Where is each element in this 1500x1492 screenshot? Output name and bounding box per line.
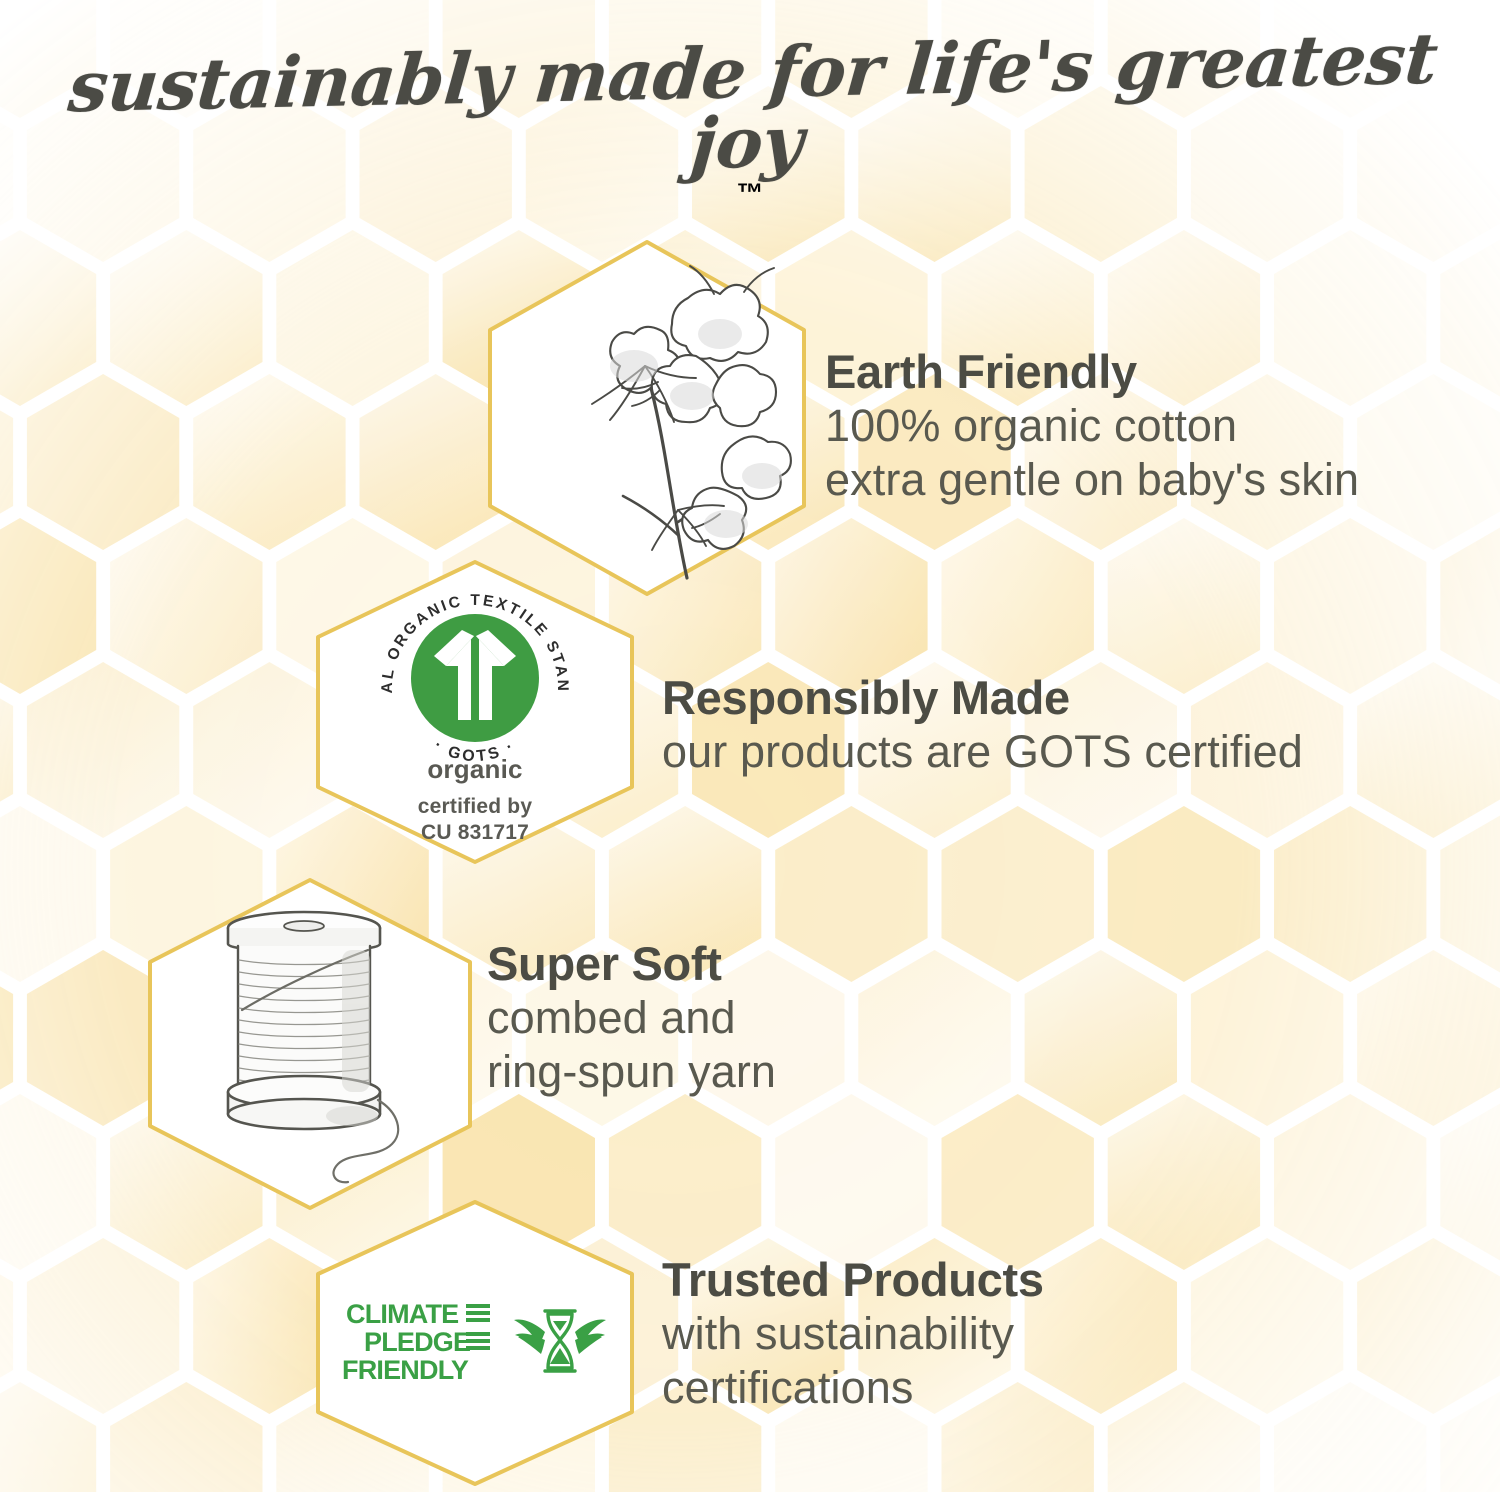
honeycomb-cell [775, 0, 927, 118]
honeycomb-cell [1357, 662, 1500, 838]
honeycomb-cell [110, 0, 262, 118]
honeycomb-cell [1274, 1382, 1426, 1492]
honeycomb-cell [1357, 1238, 1500, 1414]
honeycomb-cell [0, 1094, 96, 1270]
feature-hex-trusted-products[interactable]: CLIMATE PLEDGE FRIENDLY [312, 1198, 638, 1488]
feature-title: Trusted Products [662, 1254, 1044, 1307]
honeycomb-cell [1357, 374, 1500, 550]
honeycomb-cell [0, 806, 96, 982]
honeycomb-cell [692, 86, 845, 262]
feature-text-responsibly-made: Responsibly Made our products are GOTS c… [662, 672, 1303, 779]
honeycomb-cell [1108, 518, 1260, 694]
honeycomb-cell [360, 86, 512, 262]
honeycomb-cell [110, 518, 262, 694]
honeycomb-cell [1274, 518, 1426, 694]
climate-pledge-wordmark: CLIMATE PLEDGE FRIENDLY [342, 1297, 494, 1389]
gots-green-circle [411, 614, 539, 742]
honeycomb-cell [1274, 0, 1426, 118]
feature-text-super-soft: Super Soft combed and ring-spun yarn [487, 938, 776, 1099]
honeycomb-cell [1274, 1094, 1426, 1270]
honeycomb-cell [1025, 1238, 1177, 1414]
honeycomb-cell [1440, 230, 1500, 406]
honeycomb-cell [1440, 1094, 1500, 1270]
honeycomb-cell [858, 86, 1010, 262]
honeycomb-cell [110, 1382, 262, 1492]
honeycomb-cell [193, 374, 345, 550]
honeycomb-cell [942, 518, 1094, 694]
feature-hex-responsibly-made[interactable]: GLOBAL ORGANIC TEXTILE STANDARD · GOTS ·… [310, 558, 640, 866]
honeycomb-cell [276, 230, 429, 406]
climate-pledge-friendly-logo: CLIMATE PLEDGE FRIENDLY [342, 1297, 608, 1389]
honeycomb-cell [1357, 86, 1500, 262]
feature-title: Super Soft [487, 938, 776, 991]
gots-certified-by-label: certified by [310, 794, 640, 820]
honeycomb-cell [1191, 950, 1343, 1126]
honeycomb-cell [526, 86, 678, 262]
honeycomb-cell [1025, 86, 1177, 262]
honeycomb-cell [27, 662, 179, 838]
feature-hex-earth-friendly[interactable] [482, 238, 812, 598]
gots-certification-badge: GLOBAL ORGANIC TEXTILE STANDARD · GOTS · [370, 580, 580, 776]
honeycomb-cell [27, 1238, 179, 1414]
honeycomb-cell [276, 0, 429, 118]
honeycomb-cell [1274, 806, 1426, 982]
honeycomb-cell [0, 230, 96, 406]
gots-certifier-code: CU 831717 [310, 820, 640, 846]
honeycomb-cell [858, 950, 1010, 1126]
honeycomb-cell [942, 1094, 1094, 1270]
feature-title: Responsibly Made [662, 672, 1303, 725]
feature-text-trusted-products: Trusted Products with sustainability cer… [662, 1254, 1044, 1415]
honeycomb-cell [443, 0, 595, 118]
cpf-line-3: FRIENDLY [342, 1355, 469, 1385]
feature-line: our products are GOTS certified [662, 725, 1303, 779]
honeycomb-cell [1440, 806, 1500, 982]
feature-line: with sustainability [662, 1307, 1044, 1361]
feature-text-earth-friendly: Earth Friendly 100% organic cotton extra… [825, 346, 1359, 507]
honeycomb-cell [1108, 0, 1260, 118]
honeycomb-cell [1108, 1094, 1260, 1270]
honeycomb-cell [942, 0, 1094, 118]
feature-line: 100% organic cotton [825, 399, 1359, 453]
honeycomb-cell [110, 230, 262, 406]
honeycomb-cell [1108, 806, 1260, 982]
winged-hourglass-icon [512, 1304, 608, 1382]
honeycomb-cell [942, 806, 1094, 982]
gots-organic-label: organic [310, 754, 640, 785]
honeycomb-cell [1191, 1238, 1343, 1414]
honeycomb-cell [1357, 950, 1500, 1126]
honeycomb-cell [193, 86, 345, 262]
honeycomb-cell [609, 0, 761, 118]
honeycomb-cell [1108, 1382, 1260, 1492]
feature-line: combed and [487, 991, 776, 1045]
feature-line: extra gentle on baby's skin [825, 453, 1359, 507]
honeycomb-cell [1440, 518, 1500, 694]
feature-hex-super-soft[interactable] [142, 876, 478, 1212]
honeycomb-cell [775, 1094, 927, 1270]
honeycomb-cell [1191, 86, 1343, 262]
honeycomb-cell [27, 86, 179, 262]
honeycomb-cell [775, 806, 927, 982]
feature-line: certifications [662, 1361, 1044, 1415]
feature-line: ring-spun yarn [487, 1045, 776, 1099]
honeycomb-cell [27, 374, 179, 550]
honeycomb-cell [0, 518, 96, 694]
cpf-line-1: CLIMATE [346, 1299, 458, 1329]
feature-title: Earth Friendly [825, 346, 1359, 399]
cpf-line-2: PLEDGE [364, 1327, 470, 1357]
honeycomb-cell [1025, 950, 1177, 1126]
